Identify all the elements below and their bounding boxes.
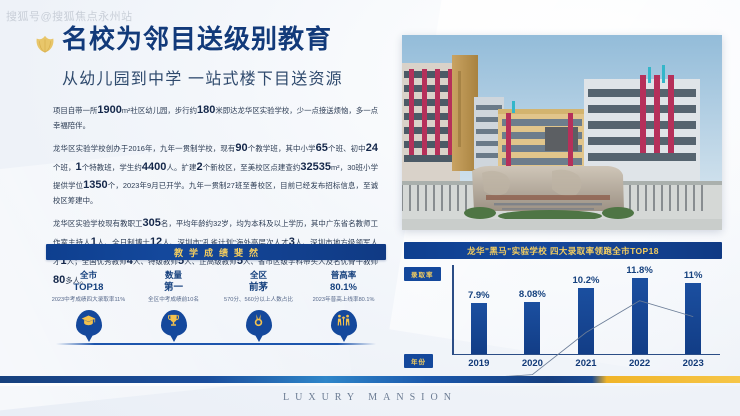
chart-body: 录取率 年份 7.9% 8.08% 10.2%	[404, 267, 722, 367]
medal-icon	[251, 313, 266, 333]
chart-band: 龙华"黑马"实验学校 四大录取率领跑全市TOP18	[404, 242, 722, 259]
watermark-text: 搜狐号@搜狐焦点永州站	[6, 8, 133, 24]
stat-desc: 2023年普高上线率80.1%	[301, 296, 386, 304]
page-subtitle: 从幼儿园到中学 一站式楼下目送资源	[62, 65, 394, 89]
stat-label: 普高率	[301, 269, 386, 281]
campus-illustration	[402, 35, 722, 230]
pins-baseline	[56, 343, 376, 345]
stats-section: 教学成绩斐然 全市 TOP18 2023中考成绩四大录取率11% 数量 第一 全…	[46, 244, 386, 336]
people-growth-icon	[336, 313, 351, 333]
stat-item: 数量 第一 全区中考成绩前10名	[131, 269, 216, 304]
stat-value: 第一	[131, 281, 216, 295]
stat-label: 全区	[216, 269, 301, 281]
chart-plot-area: 7.9% 8.08% 10.2% 11.8%	[452, 267, 720, 355]
x-tick: 2019	[452, 358, 506, 369]
pin-cell	[216, 310, 301, 336]
stat-desc: 570分、560分以上人数占比	[216, 296, 301, 304]
slide-root: 搜狐号@搜狐焦点永州站 名校为邻目送级别教育 从幼儿园到中学 一站式楼下目送资源…	[0, 0, 740, 416]
stats-band: 教学成绩斐然	[46, 244, 386, 260]
chart-title: 龙华"黑马"实验学校 四大录取率领跑全市TOP18	[467, 245, 659, 257]
stat-label: 全市	[46, 269, 131, 281]
header: 名校为邻目送级别教育 从幼儿园到中学 一站式楼下目送资源	[34, 26, 394, 89]
stat-pin	[331, 310, 357, 336]
stat-item: 全区 前茅 570分、560分以上人数占比	[216, 269, 301, 304]
stat-pin	[76, 310, 102, 336]
graduation-cap-icon	[81, 313, 96, 333]
school-campus-photo	[402, 35, 722, 230]
stats-band-title: 教学成绩斐然	[168, 246, 264, 259]
stat-label: 数量	[131, 269, 216, 281]
x-tick: 2020	[506, 358, 560, 369]
pin-cell	[46, 310, 131, 336]
footer-brand: LUXURY MANSION	[0, 392, 740, 403]
pin-cell	[131, 310, 216, 336]
stat-pin	[246, 310, 272, 336]
chart-ylabel: 录取率	[404, 267, 441, 281]
stat-desc: 2023中考成绩四大录取率11%	[46, 296, 131, 304]
stat-pin	[161, 310, 187, 336]
stat-item: 普高率 80.1% 2023年普高上线率80.1%	[301, 269, 386, 304]
x-tick: 2021	[559, 358, 613, 369]
title-row: 名校为邻目送级别教育	[34, 26, 394, 55]
chart-xlabel: 年份	[404, 354, 433, 368]
fan-logo-icon	[34, 33, 56, 55]
admission-rate-chart: 龙华"黑马"实验学校 四大录取率领跑全市TOP18 录取率 年份 7.9% 8.…	[404, 242, 722, 367]
stat-value: TOP18	[46, 281, 131, 295]
paragraph-2: 龙华区实验学校创办于2016年，九年一贯制学校，现有90个教学班，其中小学65个…	[53, 139, 378, 208]
stats-grid: 全市 TOP18 2023中考成绩四大录取率11% 数量 第一 全区中考成绩前1…	[46, 269, 386, 304]
trophy-icon	[166, 313, 181, 333]
pin-cell	[301, 310, 386, 336]
stone-inscription	[486, 195, 610, 200]
stats-pins	[46, 310, 386, 336]
paragraph-1: 项目自带一所1900m²社区幼儿园，步行约180米即达龙华区实验学校，少一点接送…	[53, 101, 378, 133]
stat-item: 全市 TOP18 2023中考成绩四大录取率11%	[46, 269, 131, 304]
stat-desc: 全区中考成绩前10名	[131, 296, 216, 304]
footer-accent-bar	[0, 376, 740, 383]
x-tick: 2022	[613, 358, 667, 369]
stat-value: 前茅	[216, 281, 301, 295]
x-tick: 2023	[666, 358, 720, 369]
chart-x-tick-labels: 2019 2020 2021 2022 2023	[452, 358, 720, 369]
page-title: 名校为邻目送级别教育	[62, 26, 332, 53]
stat-value: 80.1%	[301, 281, 386, 295]
